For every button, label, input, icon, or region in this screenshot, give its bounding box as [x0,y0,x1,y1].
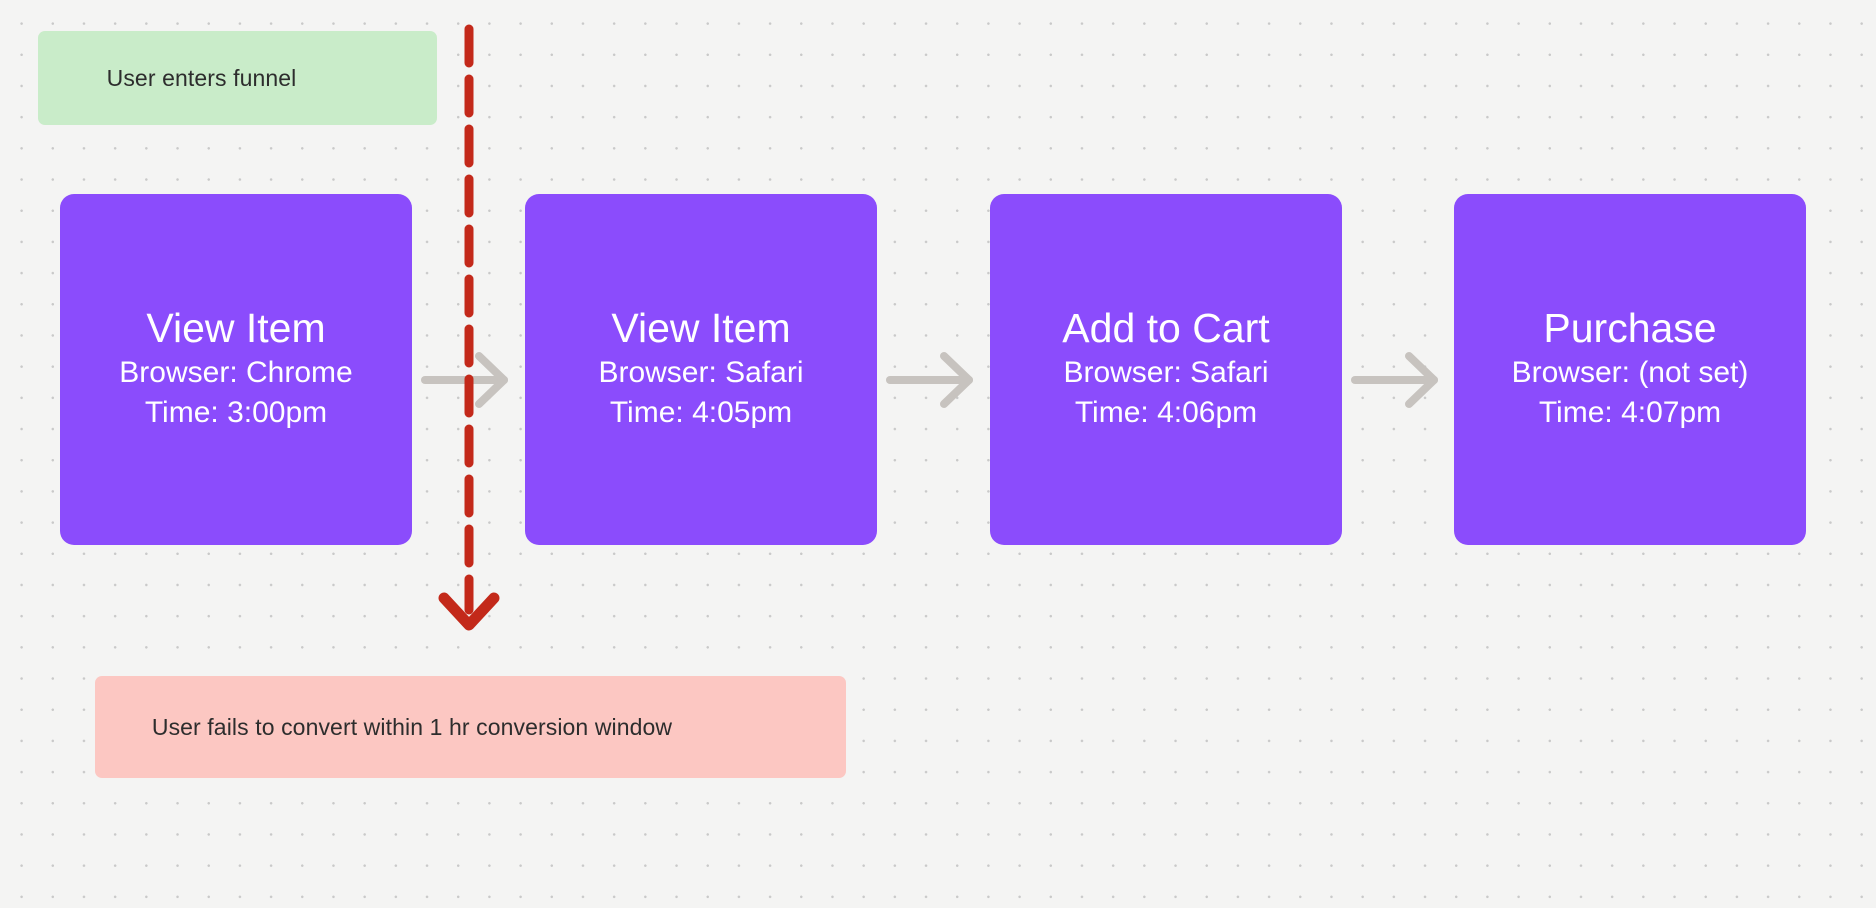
dropoff-dashed-arrow-icon [420,20,520,660]
event-card-time: Time: 3:00pm [145,393,327,433]
annotation-enter-label: User enters funnel [107,64,297,93]
event-card-browser: Browser: Chrome [119,353,352,393]
flow-arrow-icon [1342,340,1455,420]
event-card-view-item-chrome[interactable]: View Item Browser: Chrome Time: 3:00pm [60,194,412,545]
event-card-browser: Browser: Safari [1063,353,1268,393]
event-card-browser: Browser: (not set) [1512,353,1749,393]
event-card-add-to-cart[interactable]: Add to Cart Browser: Safari Time: 4:06pm [990,194,1342,545]
diagram-canvas: User enters funnel View Item Browser: Ch… [0,0,1876,908]
event-card-purchase[interactable]: Purchase Browser: (not set) Time: 4:07pm [1454,194,1806,545]
event-card-time: Time: 4:05pm [610,393,792,433]
event-card-title: Purchase [1543,306,1716,350]
event-card-title: View Item [611,306,790,350]
event-card-title: View Item [146,306,325,350]
event-card-time: Time: 4:06pm [1075,393,1257,433]
flow-arrow-icon [877,340,990,420]
event-card-title: Add to Cart [1062,306,1269,350]
event-card-view-item-safari[interactable]: View Item Browser: Safari Time: 4:05pm [525,194,877,545]
annotation-fail-label: User fails to convert within 1 hr conver… [152,713,672,742]
annotation-user-enters-funnel[interactable]: User enters funnel [38,31,437,125]
annotation-user-fails-to-convert[interactable]: User fails to convert within 1 hr conver… [95,676,846,778]
event-card-browser: Browser: Safari [598,353,803,393]
event-card-time: Time: 4:07pm [1539,393,1721,433]
